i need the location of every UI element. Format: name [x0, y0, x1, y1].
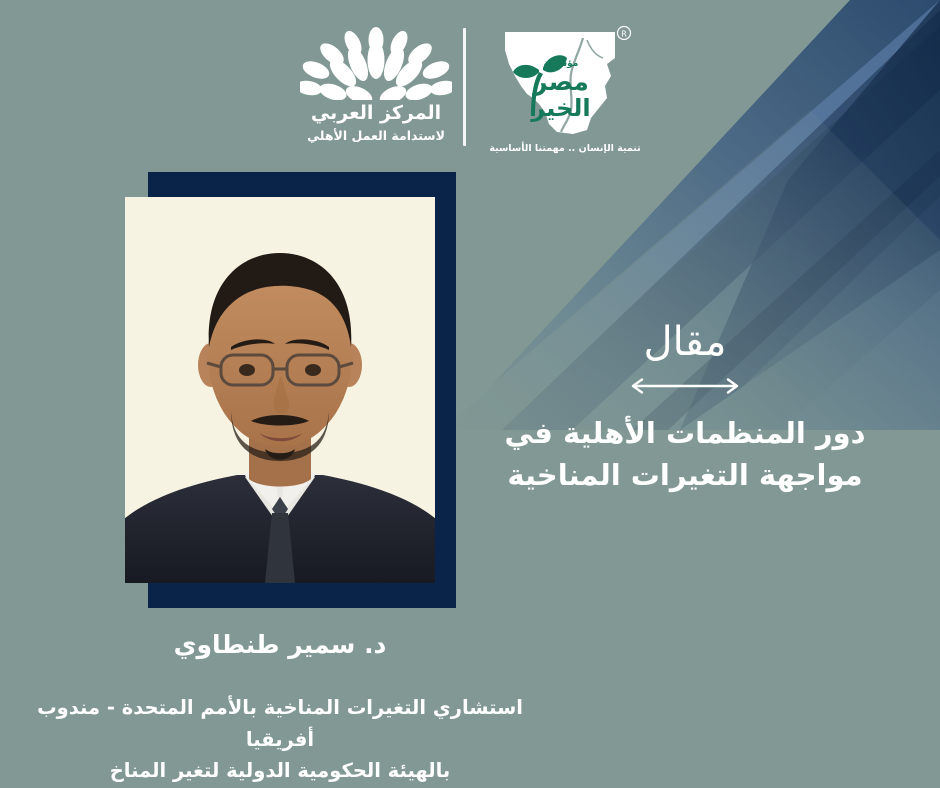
logo-arabic-center-subtitle: لاستدامة العمل الأهلي: [307, 128, 445, 143]
article-title-line-1: دور المنظمات الأهلية في: [505, 416, 866, 450]
author-credentials: استشاري التغيرات المناخية بالأمم المتحدة…: [0, 692, 560, 787]
leaf-fan-icon: [300, 26, 452, 100]
logo-arabic-center-name: المركز العربي: [311, 103, 441, 125]
logo-divider: [463, 28, 466, 146]
svg-text:الخير: الخير: [530, 94, 590, 122]
promo-card-canvas: المركز العربي لاستدامة العمل الأهلي: [0, 0, 940, 788]
registered-mark-icon: R: [618, 27, 631, 40]
svg-text:مصر: مصر: [531, 67, 589, 97]
article-title-line-2: مواجهة التغيرات المناخية: [507, 458, 862, 492]
double-arrow-icon: [623, 378, 747, 394]
svg-text:R: R: [621, 30, 627, 39]
logo-misr-el-kheir[interactable]: مؤسسة مصر الخير R تنمية الإنسان .. مهمتن…: [487, 24, 643, 154]
author-credentials-line-1: استشاري التغيرات المناخية بالأمم المتحدة…: [0, 692, 560, 755]
article-title: دور المنظمات الأهلية في مواجهة التغيرات …: [470, 412, 900, 496]
article-kicker: مقال: [470, 320, 900, 364]
header-logos: المركز العربي لاستدامة العمل الأهلي: [0, 0, 940, 170]
author-credentials-line-2: بالهيئة الحكومية الدولية لتغير المناخ: [0, 755, 560, 787]
portrait-photo: [125, 197, 435, 583]
logo-arabic-center[interactable]: المركز العربي لاستدامة العمل الأهلي: [286, 26, 466, 152]
author-name: د. سمير طنطاوي: [0, 630, 560, 660]
logo-misr-el-kheir-tagline: تنمية الإنسان .. مهمتنا الأساسية: [487, 143, 643, 154]
article-block: مقال دور المنظمات الأهلية في مواجهة التغ…: [470, 320, 900, 496]
egypt-map-seedling-icon: مؤسسة مصر الخير R: [487, 24, 643, 144]
